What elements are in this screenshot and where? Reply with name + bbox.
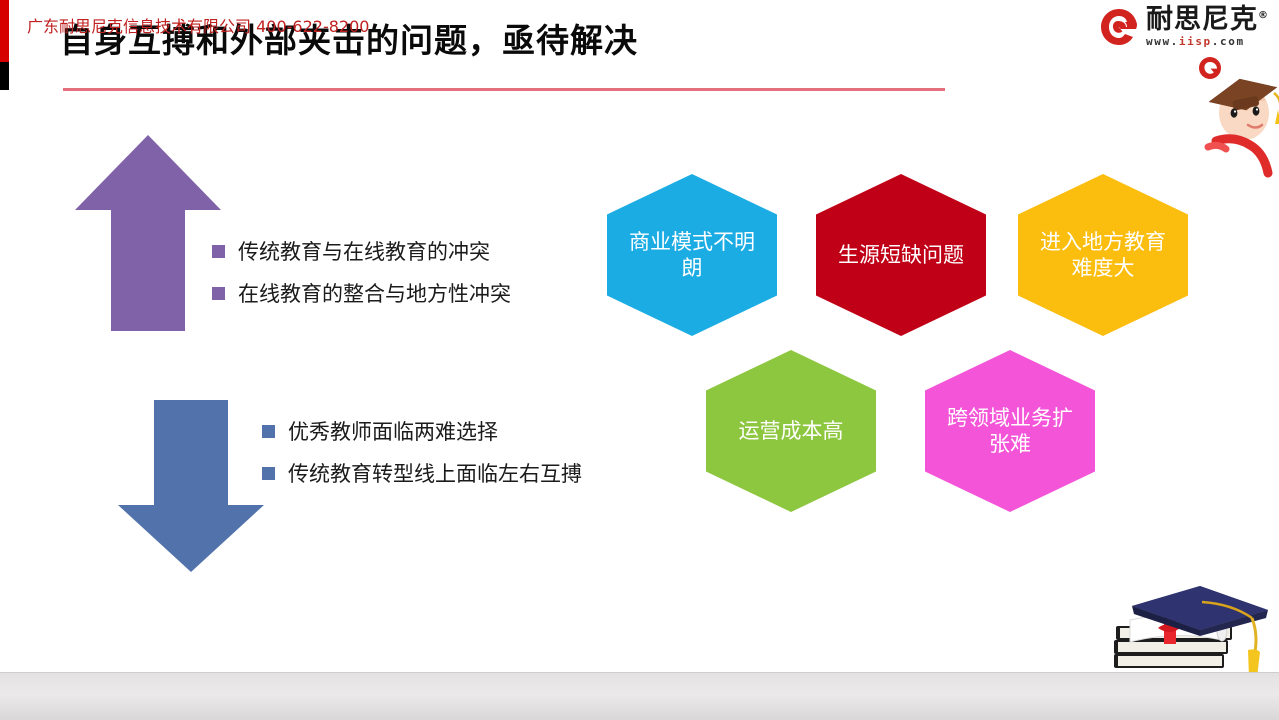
hexagon-business-model: 商业模式不明朗 bbox=[607, 174, 777, 336]
slide-canvas: 自身互搏和外部夹击的问题，亟待解决 耐思尼克® www.iisp.com bbox=[0, 0, 1279, 720]
footer-contact-text: 广东耐思尼克信息技术有限公司 400-622-8200 bbox=[27, 13, 369, 37]
edge-accent-black bbox=[0, 62, 9, 90]
hexagon-label: 生源短缺问题 bbox=[826, 242, 976, 268]
logo-url-brand: iisp bbox=[1179, 35, 1212, 48]
bullet-label: 传统教育转型线上面临左右互搏 bbox=[288, 458, 582, 488]
list-item: 在线教育的整合与地方性冲突 bbox=[212, 278, 511, 308]
logo-text: 耐思尼克® www.iisp.com bbox=[1146, 6, 1269, 47]
hexagon-label: 进入地方教育难度大 bbox=[1018, 229, 1188, 282]
hexagon-local-market-difficulty: 进入地方教育难度大 bbox=[1018, 174, 1188, 336]
down-arrow-icon bbox=[118, 400, 264, 572]
hexagon-student-shortage: 生源短缺问题 bbox=[816, 174, 986, 336]
bullet-square-icon bbox=[212, 245, 225, 258]
list-item: 传统教育转型线上面临左右互搏 bbox=[262, 458, 582, 488]
bottom-bullet-list: 优秀教师面临两难选择 传统教育转型线上面临左右互搏 bbox=[262, 416, 582, 500]
list-item: 优秀教师面临两难选择 bbox=[262, 416, 582, 446]
logo-url: www.iisp.com bbox=[1146, 36, 1245, 47]
graduate-mascot-icon bbox=[1186, 55, 1279, 190]
top-bullet-list: 传统教育与在线教育的冲突 在线教育的整合与地方性冲突 bbox=[212, 236, 511, 320]
logo-url-prefix: www. bbox=[1146, 35, 1179, 48]
edge-accent-red bbox=[0, 0, 9, 62]
logo-company-name: 耐思尼克® bbox=[1146, 6, 1269, 33]
bullet-label: 优秀教师面临两难选择 bbox=[288, 416, 498, 446]
bullet-square-icon bbox=[262, 425, 275, 438]
bullet-square-icon bbox=[262, 467, 275, 480]
hexagon-label: 运营成本高 bbox=[727, 418, 856, 444]
list-item: 传统教育与在线教育的冲突 bbox=[212, 236, 511, 266]
bullet-square-icon bbox=[212, 287, 225, 300]
hexagon-label: 商业模式不明朗 bbox=[607, 229, 777, 282]
logo-company-label: 耐思尼克 bbox=[1146, 4, 1258, 35]
title-underline bbox=[63, 88, 945, 91]
bullet-label: 在线教育的整合与地方性冲突 bbox=[238, 278, 511, 308]
hexagon-label: 跨领域业务扩张难 bbox=[925, 405, 1095, 458]
hexagon-cross-domain-expansion: 跨领域业务扩张难 bbox=[925, 350, 1095, 512]
brand-logo: 耐思尼克® www.iisp.com bbox=[1099, 6, 1269, 47]
bullet-label: 传统教育与在线教育的冲突 bbox=[238, 236, 490, 266]
footer-bar bbox=[0, 672, 1279, 720]
logo-url-suffix: .com bbox=[1212, 35, 1245, 48]
hexagon-operating-cost: 运营成本高 bbox=[706, 350, 876, 512]
registered-mark-icon: ® bbox=[1258, 10, 1269, 21]
logo-e-icon bbox=[1099, 7, 1139, 47]
up-arrow-icon bbox=[75, 135, 221, 331]
